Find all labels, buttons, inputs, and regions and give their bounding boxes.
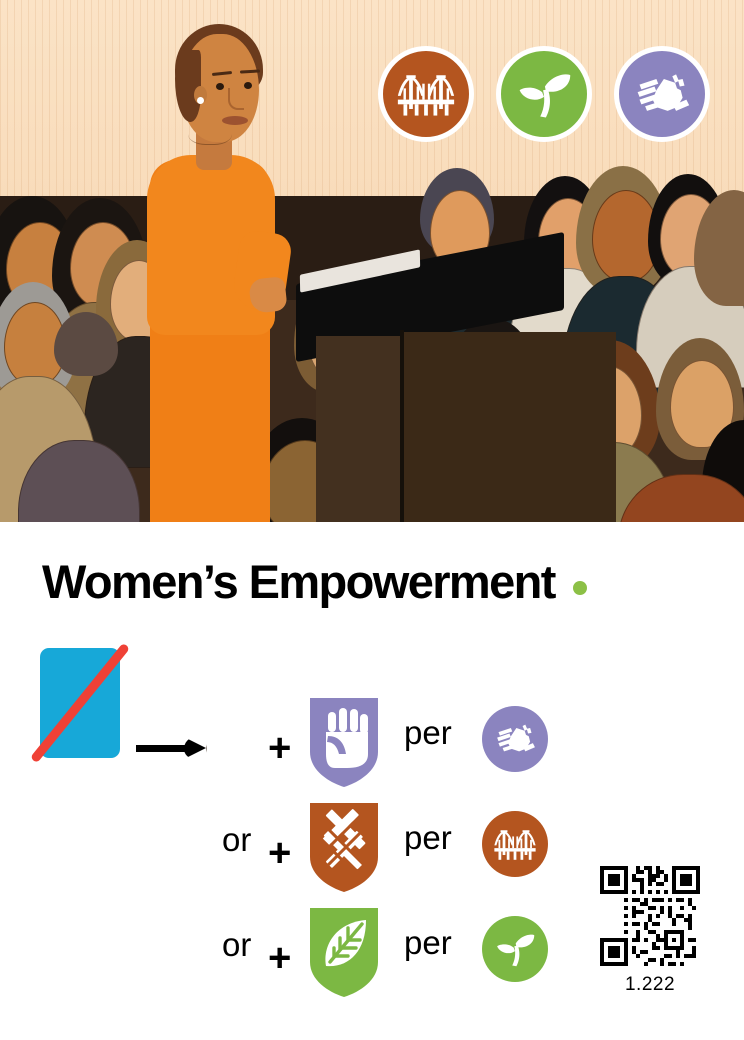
per-label-3: per bbox=[404, 924, 452, 962]
equation-row-1: + per bbox=[0, 640, 744, 745]
illustration-header bbox=[0, 0, 744, 522]
poster-card: Women’s Empowerment + bbox=[0, 0, 744, 1040]
qr-caption: 1.222 bbox=[600, 974, 700, 996]
plus-sign-3: + bbox=[268, 938, 291, 978]
equation-row-2: or + bbox=[0, 745, 744, 850]
podium-front-right bbox=[404, 332, 616, 522]
content-panel: Women’s Empowerment + bbox=[0, 522, 744, 1040]
speaker-eye-left bbox=[216, 83, 224, 90]
or-label-3: or bbox=[222, 926, 251, 964]
sprout-badge bbox=[496, 46, 592, 142]
podium-seam bbox=[400, 330, 404, 522]
qr-code[interactable] bbox=[600, 866, 700, 966]
sprout-icon bbox=[493, 927, 537, 971]
speaker-mouth bbox=[222, 116, 248, 125]
page-title: Women’s Empowerment bbox=[42, 558, 555, 605]
title-accent-dot bbox=[573, 581, 587, 595]
qr-block: 1.222 bbox=[600, 866, 700, 996]
title-row: Women’s Empowerment bbox=[42, 558, 587, 605]
clasped-hands-badge bbox=[614, 46, 710, 142]
bridge-icon bbox=[396, 64, 456, 124]
leaf-shield bbox=[308, 906, 380, 998]
top-badge-group bbox=[378, 46, 710, 142]
speaker-nose bbox=[228, 88, 244, 110]
sprout-icon bbox=[514, 64, 574, 124]
sprout-circle bbox=[482, 916, 548, 982]
speaker-earring bbox=[197, 97, 204, 104]
podium-front-left bbox=[316, 336, 402, 522]
bridge-badge bbox=[378, 46, 474, 142]
clasped-hands-icon bbox=[632, 64, 692, 124]
speaker-eye-right bbox=[244, 82, 252, 89]
